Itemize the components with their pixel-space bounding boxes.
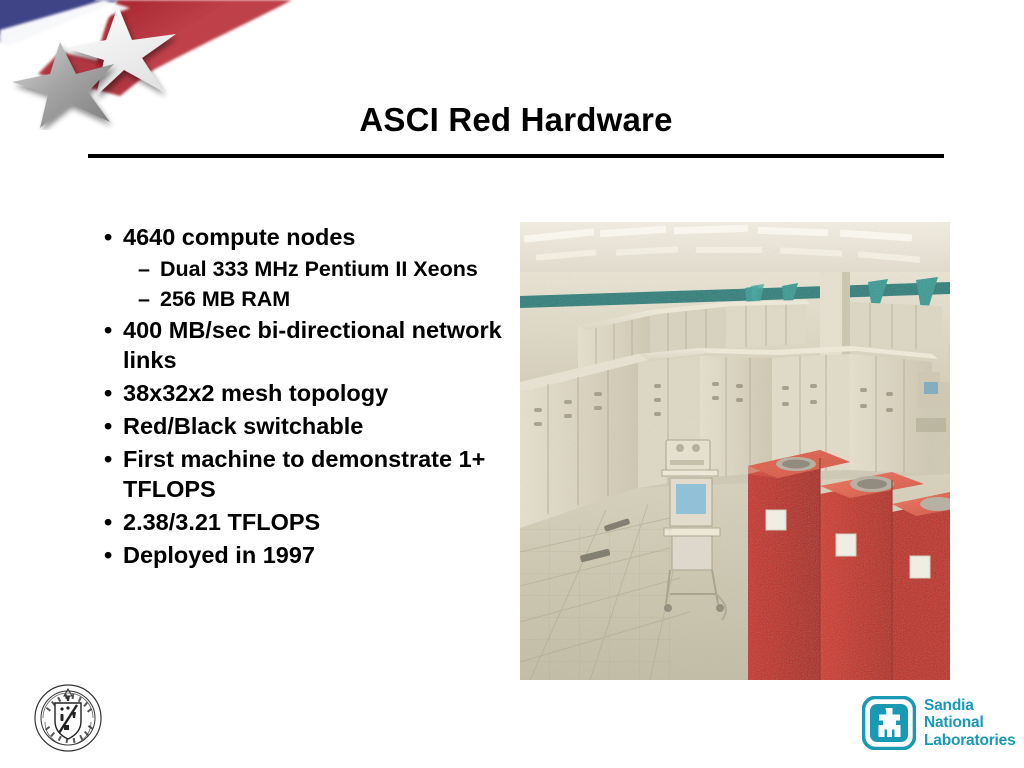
list-item: • Deployed in 1997 xyxy=(104,540,504,570)
list-item: • First machine to demonstrate 1+ TFLOPS xyxy=(104,444,504,504)
list-item-label: 4640 compute nodes xyxy=(123,222,504,252)
sandia-national-laboratories-logo: Sandia National Laboratories xyxy=(862,693,1022,753)
list-item: • 2.38/3.21 TFLOPS xyxy=(104,507,504,537)
bullet-marker: • xyxy=(104,444,123,474)
list-item: – 256 MB RAM xyxy=(104,285,504,313)
bullet-marker: • xyxy=(104,222,123,252)
list-item: • 400 MB/sec bi-directional network link… xyxy=(104,315,504,375)
bullet-marker: • xyxy=(104,507,123,537)
department-of-energy-seal xyxy=(33,683,103,753)
banner-navy-field xyxy=(0,0,120,46)
list-item-label: First machine to demonstrate 1+ TFLOPS xyxy=(123,444,504,504)
list-item: • 4640 compute nodes xyxy=(104,222,504,252)
sandia-wordmark: Sandia National Laboratories xyxy=(924,697,1016,750)
sandia-wordmark-line3: Laboratories xyxy=(924,732,1016,750)
title-divider-rule xyxy=(88,154,944,158)
machine-room-photo xyxy=(520,222,950,680)
sandia-thunderbird-icon xyxy=(862,696,916,750)
red-cabinet-row xyxy=(748,450,950,680)
bullet-marker: • xyxy=(104,411,123,441)
list-item-label: 2.38/3.21 TFLOPS xyxy=(123,507,504,537)
sandia-wordmark-line2: National xyxy=(924,714,1016,732)
list-item-label: Deployed in 1997 xyxy=(123,540,504,570)
right-cabinet-bank xyxy=(772,346,946,474)
bullet-marker: • xyxy=(104,540,123,570)
list-item: • Red/Black switchable xyxy=(104,411,504,441)
list-item: – Dual 333 MHz Pentium II Xeons xyxy=(104,255,504,283)
list-item-label: 38x32x2 mesh topology xyxy=(123,378,504,408)
banner-red-swoosh xyxy=(38,0,292,96)
bullet-marker: • xyxy=(104,378,123,408)
sandia-wordmark-line1: Sandia xyxy=(924,697,1016,715)
list-item-label: 256 MB RAM xyxy=(160,285,504,313)
monitor-screen xyxy=(924,382,938,394)
list-item-label: 400 MB/sec bi-directional network links xyxy=(123,315,504,375)
bullet-marker: – xyxy=(138,255,160,283)
banner-white-star xyxy=(66,6,176,96)
list-item-label: Red/Black switchable xyxy=(123,411,504,441)
bullet-marker: • xyxy=(104,315,123,345)
slide-bullet-list: • 4640 compute nodes – Dual 333 MHz Pent… xyxy=(104,222,504,573)
cart-monitor-screen xyxy=(676,484,706,514)
slide-title: ASCI Red Hardware xyxy=(88,100,944,140)
banner-white-band xyxy=(0,0,130,58)
list-item-label: Dual 333 MHz Pentium II Xeons xyxy=(160,255,504,283)
cabinet-label xyxy=(766,510,786,530)
bullet-marker: – xyxy=(138,285,160,313)
cabinet-label xyxy=(836,534,856,556)
list-item: • 38x32x2 mesh topology xyxy=(104,378,504,408)
cabinet-label xyxy=(910,556,930,578)
